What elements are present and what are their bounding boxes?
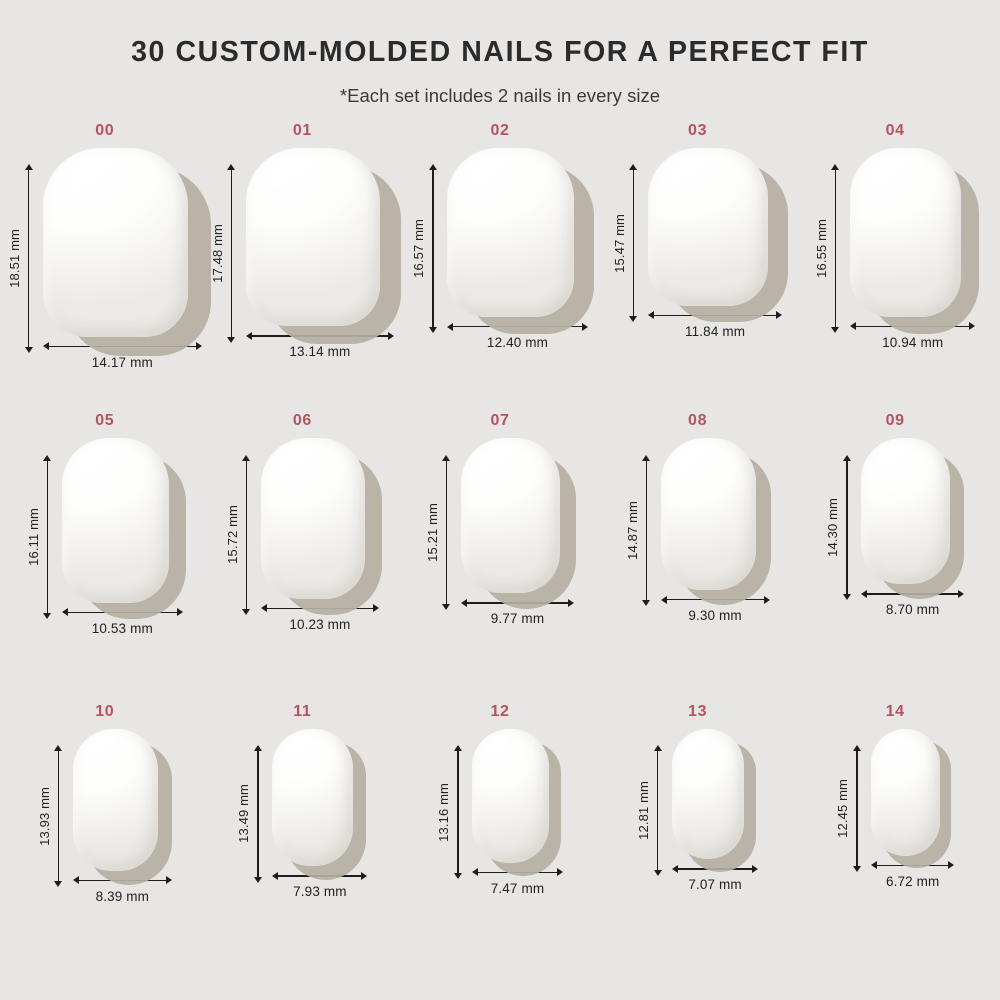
height-value-label: 15.47 mm	[613, 214, 626, 273]
height-arrow-icon	[653, 745, 662, 876]
width-value-label: 10.23 mm	[289, 618, 350, 632]
nail-size-cell-03[interactable]: 03 15.47 mm	[603, 123, 793, 338]
height-arrow-icon	[242, 455, 251, 615]
nail-size-cell-05[interactable]: 05 16.11 mm	[10, 413, 200, 635]
nail-specular-dot	[703, 736, 707, 741]
nail-figure[interactable]: 7.93 mm	[272, 729, 367, 899]
size-number-label: 12	[490, 704, 509, 720]
height-dimension: 17.48 mm	[211, 148, 236, 359]
height-dimension: 14.87 mm	[626, 438, 651, 622]
nail-specular-dot	[901, 736, 905, 741]
nail-body	[461, 438, 561, 593]
nail-figure[interactable]: 8.70 mm	[861, 438, 964, 616]
size-number-label: 09	[886, 413, 905, 429]
height-dimension: 12.45 mm	[836, 729, 861, 888]
height-dimension: 14.30 mm	[826, 438, 851, 616]
nail-specular-dot	[306, 447, 312, 453]
size-number-label: 08	[688, 413, 707, 429]
height-value-label: 16.55 mm	[815, 219, 828, 278]
width-value-label: 12.40 mm	[487, 336, 548, 350]
nail-size-chart: 30 CUSTOM-MOLDED NAILS FOR A PERFECT FIT…	[0, 0, 1000, 1000]
height-value-label: 15.72 mm	[226, 505, 239, 564]
nail-specular-dot	[105, 158, 113, 165]
height-arrow-icon	[253, 745, 262, 883]
nail-body	[861, 438, 950, 584]
nail-figure[interactable]: 7.07 mm	[672, 729, 758, 892]
nail-figure[interactable]: 13.14 mm	[246, 148, 394, 359]
width-value-label: 11.84 mm	[685, 325, 745, 339]
height-arrow-icon	[629, 164, 638, 322]
nail-body	[73, 729, 159, 871]
nail-body	[672, 729, 744, 860]
height-dimension: 15.21 mm	[426, 438, 451, 626]
nail-body	[43, 148, 188, 337]
size-row: 05 16.11 mm	[6, 413, 994, 703]
height-arrow-icon	[842, 455, 851, 601]
nail-body	[648, 148, 769, 306]
nail-specular-dot	[108, 447, 114, 453]
size-row: 10 13.93 mm	[6, 704, 994, 994]
height-arrow-icon	[227, 164, 236, 342]
size-number-label: 00	[95, 123, 114, 139]
width-value-label: 13.14 mm	[289, 345, 350, 359]
height-value-label: 15.21 mm	[426, 503, 439, 562]
width-value-label: 10.94 mm	[882, 336, 943, 350]
nail-figure[interactable]: 7.47 mm	[472, 729, 562, 896]
nail-body	[246, 148, 380, 326]
height-arrow-icon	[24, 164, 33, 353]
height-value-label: 13.93 mm	[38, 787, 51, 846]
nail-size-cell-09[interactable]: 09 14.30 mm	[800, 413, 990, 616]
height-arrow-icon	[642, 455, 651, 607]
nail-measure-group: 14.30 mm	[826, 438, 964, 616]
nail-measure-group: 12.81 mm	[637, 729, 758, 892]
nail-body	[261, 438, 365, 598]
nail-size-cell-11[interactable]: 11 13.49 mm	[207, 704, 397, 899]
nail-figure[interactable]: 12.40 mm	[447, 148, 587, 350]
height-dimension: 15.47 mm	[613, 148, 638, 338]
nail-figure[interactable]: 9.30 mm	[661, 438, 770, 622]
height-value-label: 17.48 mm	[211, 224, 224, 283]
nail-body	[272, 729, 353, 867]
nail-measure-group: 16.55 mm	[815, 148, 976, 349]
nail-figure[interactable]: 9.77 mm	[461, 438, 575, 626]
height-dimension: 13.16 mm	[437, 729, 462, 896]
nail-size-cell-06[interactable]: 06 15.72 mm	[207, 413, 397, 631]
nail-measure-group: 16.57 mm	[412, 148, 587, 350]
height-dimension: 13.49 mm	[237, 729, 262, 899]
page-title: 30 CUSTOM-MOLDED NAILS FOR A PERFECT FIT	[0, 36, 1000, 69]
height-value-label: 14.30 mm	[826, 498, 839, 557]
nail-size-cell-02[interactable]: 02 16.57 mm	[405, 123, 595, 350]
width-value-label: 14.17 mm	[92, 356, 153, 370]
height-value-label: 18.51 mm	[8, 229, 21, 288]
nail-figure[interactable]: 6.72 mm	[871, 729, 954, 888]
height-value-label: 12.45 mm	[836, 779, 849, 838]
nail-size-cell-13[interactable]: 13 12.81 mm	[603, 704, 793, 892]
nail-body	[447, 148, 573, 317]
size-number-label: 05	[95, 413, 114, 429]
size-number-label: 11	[293, 704, 311, 720]
nail-body	[850, 148, 962, 317]
nail-figure[interactable]: 8.39 mm	[73, 729, 173, 904]
size-number-label: 02	[490, 123, 509, 139]
size-number-label: 13	[688, 704, 707, 720]
nail-specular-dot	[304, 158, 311, 164]
height-value-label: 16.11 mm	[27, 508, 40, 566]
nail-size-cell-04[interactable]: 04 16.55 mm	[800, 123, 990, 349]
height-value-label: 14.87 mm	[626, 501, 639, 560]
chart-header: 30 CUSTOM-MOLDED NAILS FOR A PERFECT FIT…	[0, 0, 1000, 107]
width-value-label: 7.07 mm	[688, 878, 741, 892]
height-value-label: 13.16 mm	[437, 783, 450, 842]
width-value-label: 9.77 mm	[491, 612, 544, 626]
nail-measure-group: 13.16 mm	[437, 729, 562, 896]
height-arrow-icon	[852, 745, 861, 872]
nail-measure-group: 12.45 mm	[836, 729, 954, 888]
width-value-label: 9.30 mm	[688, 609, 741, 623]
nail-measure-group: 14.87 mm	[626, 438, 770, 622]
width-value-label: 7.93 mm	[293, 885, 346, 899]
nail-measure-group: 13.49 mm	[237, 729, 367, 899]
size-number-label: 03	[688, 123, 707, 139]
size-number-label: 10	[95, 704, 114, 720]
width-value-label: 6.72 mm	[886, 875, 939, 889]
nail-size-cell-01[interactable]: 01 17.48 mm	[207, 123, 397, 359]
nail-size-cell-12[interactable]: 12 13.16 mm	[405, 704, 595, 896]
height-value-label: 16.57 mm	[412, 219, 425, 278]
nail-specular-dot	[701, 447, 706, 452]
size-row: 00 18.51 mm	[6, 123, 994, 413]
size-number-label: 07	[490, 413, 509, 429]
nail-figure[interactable]: 11.84 mm	[648, 148, 783, 338]
nail-measure-group: 15.47 mm	[613, 148, 783, 338]
nail-figure[interactable]: 10.23 mm	[261, 438, 379, 631]
height-arrow-icon	[442, 455, 451, 610]
nail-figure[interactable]: 10.94 mm	[850, 148, 976, 349]
nail-measure-group: 16.11 mm	[27, 438, 183, 635]
height-arrow-icon	[831, 164, 840, 333]
nail-figure[interactable]: 14.17 mm	[43, 148, 202, 369]
nail-specular-dot	[502, 157, 509, 163]
height-dimension: 16.55 mm	[815, 148, 840, 349]
height-value-label: 13.49 mm	[237, 784, 250, 843]
nail-measure-group: 18.51 mm	[8, 148, 202, 369]
height-arrow-icon	[453, 745, 462, 879]
height-arrow-icon	[43, 455, 52, 619]
nail-measure-group: 17.48 mm	[211, 148, 394, 359]
height-value-label: 12.81 mm	[637, 781, 650, 840]
height-dimension: 15.72 mm	[226, 438, 251, 631]
height-dimension: 12.81 mm	[637, 729, 662, 892]
nail-body	[661, 438, 756, 590]
size-number-label: 14	[886, 704, 905, 720]
size-number-label: 04	[886, 123, 905, 139]
nail-size-cell-10[interactable]: 10 13.93 mm	[10, 704, 200, 904]
height-arrow-icon	[54, 745, 63, 887]
size-number-label: 01	[293, 123, 312, 139]
nail-body	[871, 729, 940, 856]
width-value-label: 10.53 mm	[92, 622, 153, 636]
nail-body	[62, 438, 169, 602]
nail-size-cell-14[interactable]: 14 12.45 mm	[800, 704, 990, 888]
width-value-label: 8.70 mm	[886, 603, 939, 617]
nail-size-cell-00[interactable]: 00 18.51 mm	[10, 123, 200, 369]
nail-body	[472, 729, 548, 863]
size-grid: 00 18.51 mm	[0, 107, 1000, 1000]
height-dimension: 16.57 mm	[412, 148, 437, 350]
nail-figure[interactable]: 10.53 mm	[62, 438, 183, 635]
height-dimension: 16.11 mm	[27, 438, 52, 635]
page-subtitle: *Each set includes 2 nails in every size	[0, 85, 1000, 107]
height-dimension: 18.51 mm	[8, 148, 33, 369]
nail-measure-group: 13.93 mm	[38, 729, 173, 904]
nail-specular-dot	[307, 736, 311, 741]
nail-measure-group: 15.21 mm	[426, 438, 575, 626]
height-arrow-icon	[428, 164, 437, 333]
nail-size-cell-08[interactable]: 08 14.87 mm	[603, 413, 793, 622]
size-number-label: 06	[293, 413, 312, 429]
height-dimension: 13.93 mm	[38, 729, 63, 904]
width-value-label: 8.39 mm	[96, 890, 149, 904]
width-value-label: 7.47 mm	[491, 882, 544, 896]
nail-size-cell-07[interactable]: 07 15.21 mm	[405, 413, 595, 626]
nail-measure-group: 15.72 mm	[226, 438, 379, 631]
